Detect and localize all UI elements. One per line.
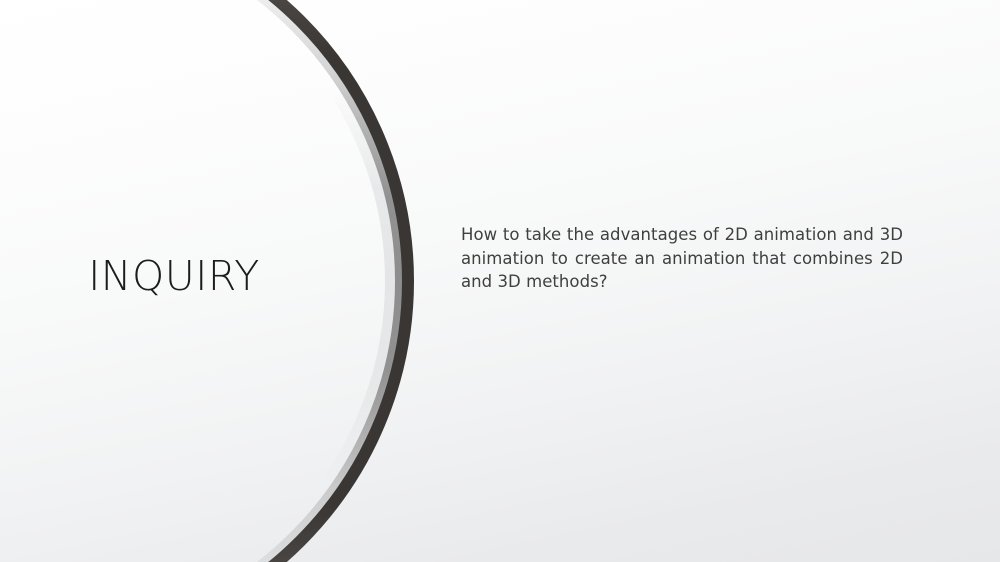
page-title: INQUIRY — [88, 255, 260, 298]
title-block: INQUIRY — [0, 255, 420, 298]
presentation-slide: INQUIRY How to take the advantages of 2D… — [0, 0, 1000, 562]
body-text-block: How to take the advantages of 2D animati… — [461, 223, 903, 294]
inquiry-question-text: How to take the advantages of 2D animati… — [461, 223, 903, 294]
